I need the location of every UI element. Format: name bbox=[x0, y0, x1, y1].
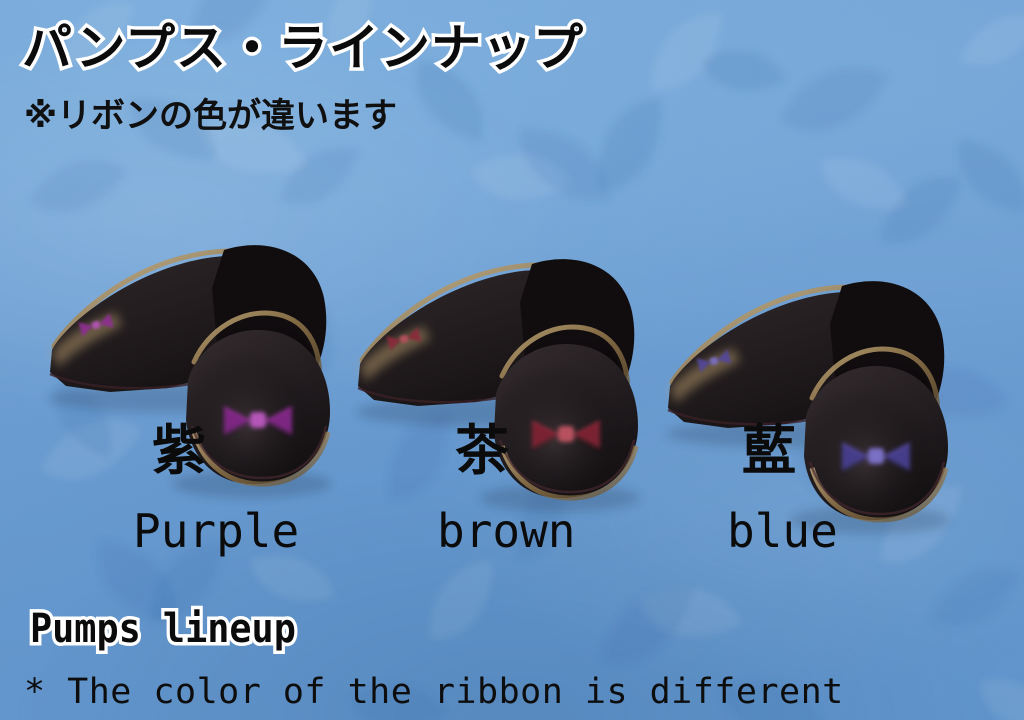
page-subtitle: ※リボンの色が違います bbox=[24, 88, 397, 137]
product-label-jp-purple: 紫 bbox=[152, 424, 206, 478]
footer-note: * The color of the ribbon is different bbox=[24, 672, 844, 712]
product-label-jp-brown: 茶 bbox=[455, 424, 509, 478]
shoe-pair-blue[interactable] bbox=[636, 262, 966, 542]
product-label-jp-blue: 藍 bbox=[742, 424, 796, 478]
product-label-en-blue: blue bbox=[727, 508, 838, 554]
product-label-en-brown: brown bbox=[437, 508, 575, 554]
product-label-en-purple: Purple bbox=[133, 508, 299, 554]
poster-canvas: パンプス・ラインナップ ※リボンの色が違います 紫 Purple 茶 brown… bbox=[0, 0, 1024, 720]
page-title: パンプス・ラインナップ bbox=[22, 8, 584, 80]
footer-title: Pumps lineup bbox=[30, 606, 296, 652]
